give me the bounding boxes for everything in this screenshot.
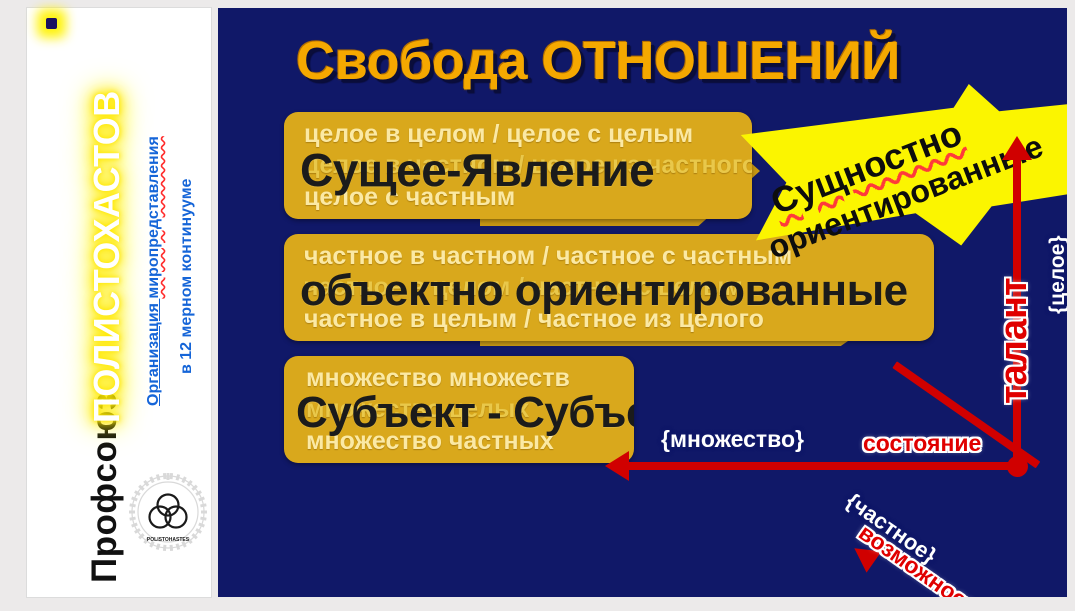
tagline-line-2: в 12 мерном континууме	[178, 179, 196, 374]
axis-label-mnozhestvo: {множество}	[661, 426, 804, 453]
axis-label-sostoyanie: состояние	[863, 430, 981, 457]
slide-title: Свобода ОТНОШЕНИЙ	[218, 30, 978, 92]
vertical-axis-arrowhead	[1002, 136, 1032, 160]
logo-wordmark: POLISTOHASTES	[147, 537, 190, 543]
presentation-slide: Свобода ОТНОШЕНИЙ целое в целом / целое …	[218, 8, 1067, 597]
tagline-misspelled-word: миропредставления	[145, 136, 162, 298]
polistohastes-gear-logo: POLISTOHASTES	[127, 471, 209, 553]
slide-canvas: Профсоюз ПОЛИСТОХАСТОВ Организация мироп…	[0, 0, 1075, 611]
category-box-sushee-yavlenie[interactable]: целое в целом / целое с целым целое в ча…	[284, 112, 752, 219]
box2-headline: объектно ориентированные	[300, 266, 908, 316]
glow-dot-icon	[46, 18, 57, 29]
axis-origin-dot	[1007, 456, 1028, 477]
tagline-line-1: Организация миропредставления	[145, 136, 163, 406]
axis-label-talant: талант	[993, 277, 1036, 404]
box3-headline: Субъект - Субъект	[296, 388, 634, 438]
tagline-prefix: Организация	[145, 299, 162, 406]
category-box-subekt-subekt[interactable]: множество множеств множество целых множе…	[284, 356, 634, 463]
horizontal-axis-arrowhead	[605, 451, 629, 481]
axis-label-celoe: {целое}	[1046, 235, 1067, 314]
box1-headline: Сущее-Явление	[300, 143, 654, 197]
horizontal-axis-line	[623, 462, 1021, 470]
organization-name: ПОЛИСТОХАСТОВ	[86, 90, 128, 423]
category-box-obektno-orientirovannye[interactable]: частное в частном / частное с частным ча…	[284, 234, 934, 341]
gear-logo-icon: POLISTOHASTES	[127, 471, 209, 553]
sidebar-panel: Профсоюз ПОЛИСТОХАСТОВ Организация мироп…	[27, 8, 211, 597]
